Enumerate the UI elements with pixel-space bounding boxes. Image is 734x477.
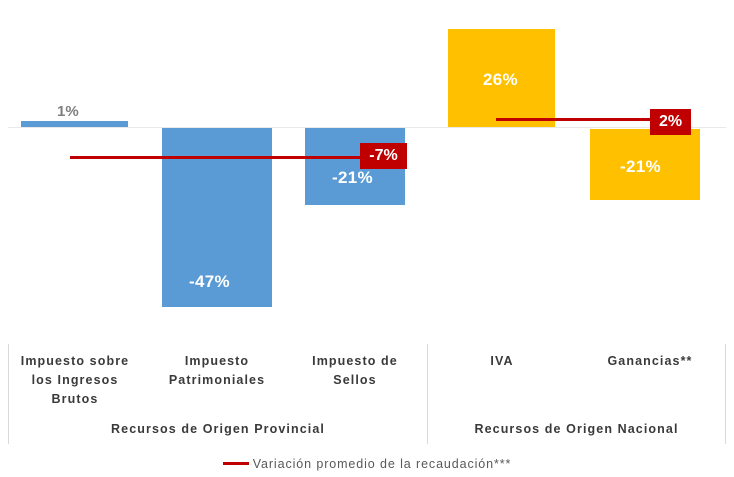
average-badge-provincial: -7% [360,143,407,169]
bar-value-ganancias: -21% [620,157,661,177]
bar-ingresos-brutos[interactable] [21,121,128,127]
group-label-provincial: Recursos de Origen Provincial [9,422,427,436]
category-label-line-1: Impuesto [152,352,282,371]
category-label-sellos: Impuesto de Sellos [290,352,420,390]
category-label-line-2: los Ingresos [10,371,140,390]
category-label-band: Impuesto sobre los Ingresos Brutos Impue… [0,330,734,445]
category-label-line-2: Sellos [290,371,420,390]
category-label-ganancias: Ganancias** [580,352,720,371]
category-label-patrimoniales: Impuesto Patrimoniales [152,352,282,390]
category-label-line-3: Brutos [10,390,140,409]
average-line-provincial [70,156,366,159]
divider-right [725,344,726,444]
category-label-ingresos-brutos: Impuesto sobre los Ingresos Brutos [10,352,140,409]
bar-value-patrimoniales: -47% [189,272,230,292]
group-label-nacional: Recursos de Origen Nacional [428,422,725,436]
category-label-line-1: Impuesto sobre [10,352,140,371]
bar-value-sellos: -21% [332,168,373,188]
bar-value-ingresos-brutos: 1% [57,103,79,120]
category-label-iva: IVA [437,352,567,371]
legend-label: Variación promedio de la recaudación*** [253,457,512,471]
category-label-line-2: Patrimoniales [152,371,282,390]
average-line-nacional [496,118,654,121]
plot-area: 1% -47% -21% 26% -21% -7% 2% [0,0,734,330]
chart-container: 1% -47% -21% 26% -21% -7% 2% Impuesto so… [0,0,734,477]
legend-line-swatch-icon [223,462,249,465]
category-label-line-1: Impuesto de [290,352,420,371]
bar-value-iva: 26% [483,70,518,90]
chart-legend: Variación promedio de la recaudación*** [0,450,734,477]
category-label-line-1: Ganancias** [580,352,720,371]
category-label-line-1: IVA [437,352,567,371]
average-badge-nacional: 2% [650,109,691,135]
